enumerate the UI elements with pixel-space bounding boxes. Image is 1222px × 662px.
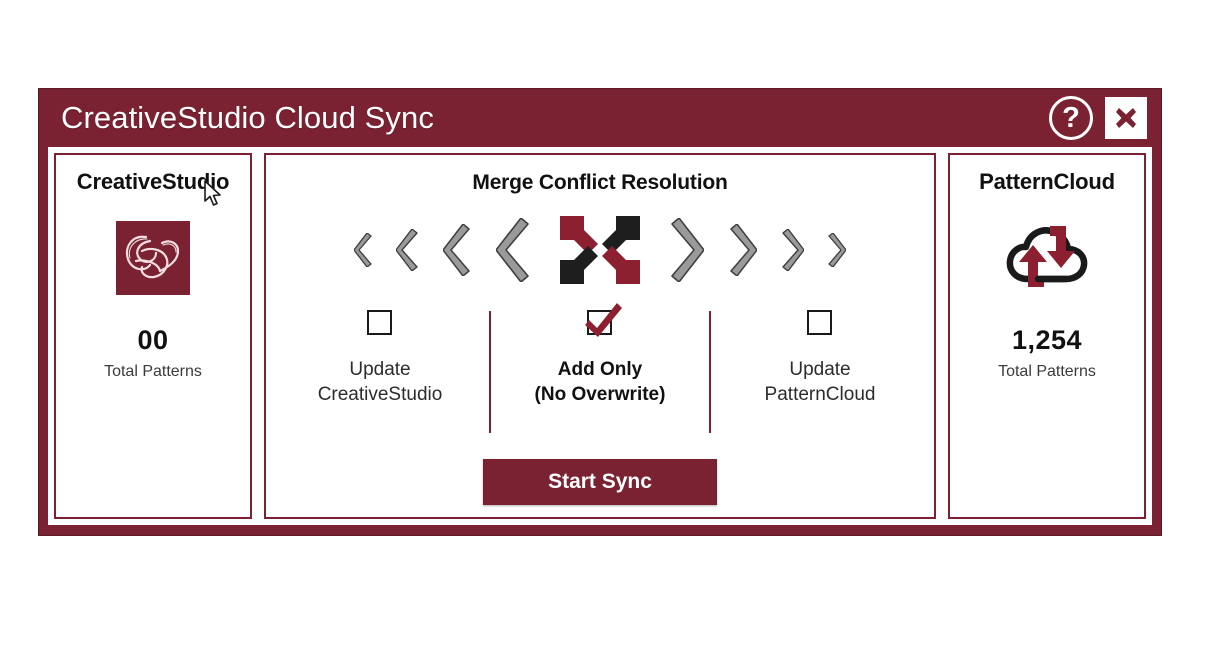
option-add-only[interactable]: Add Only (No Overwrite) [491, 307, 709, 407]
checkbox-box [367, 310, 392, 335]
option-label-line1: Update [765, 357, 876, 382]
dialog-title: CreativeStudio Cloud Sync [61, 100, 1049, 136]
chevron-right-icon-2 [724, 224, 757, 276]
center-panel-title: Merge Conflict Resolution [266, 171, 934, 195]
shuffle-sync-arrows-icon [554, 210, 646, 290]
checkbox-box [807, 310, 832, 335]
left-panel-count: 00 [137, 325, 168, 356]
chevron-left-icon-4 [496, 218, 536, 282]
right-panel-count-label: Total Patterns [998, 363, 1096, 381]
chevron-left-icon-2 [396, 229, 423, 271]
option-update-patterncloud[interactable]: Update PatternCloud [711, 307, 929, 407]
creativestudio-cs-monogram-logo [116, 221, 190, 295]
cloud-sync-dialog: CreativeStudio Cloud Sync ? CreativeStud… [38, 88, 1162, 536]
left-panel-creativestudio: CreativeStudio [54, 153, 252, 519]
sync-direction-arrows [266, 207, 934, 293]
dialog-titlebar: CreativeStudio Cloud Sync ? [39, 89, 1161, 147]
option-label-line2: PatternCloud [765, 382, 876, 407]
screen-root: CreativeStudio Cloud Sync ? CreativeStud… [0, 0, 1222, 662]
left-panel-count-label: Total Patterns [104, 363, 202, 381]
close-x-icon[interactable] [1105, 97, 1147, 139]
option-label-line2: CreativeStudio [318, 382, 443, 407]
checkbox-update-creativestudio[interactable] [365, 307, 395, 337]
option-label-update-creativestudio: Update CreativeStudio [318, 357, 443, 407]
chevron-right-icon-4 [824, 233, 846, 267]
option-label-line1: Add Only [535, 357, 666, 382]
merge-options-row: Update CreativeStudio A [266, 307, 934, 435]
cloud-sync-recycle-icon [1004, 217, 1090, 295]
checkbox-update-patterncloud[interactable] [805, 307, 835, 337]
checkbox-add-only-no-overwrite[interactable] [585, 307, 615, 337]
right-panel-patterncloud: PatternCloud 1,254 Total Patterns [948, 153, 1146, 519]
option-label-add-only: Add Only (No Overwrite) [535, 357, 666, 407]
right-panel-count: 1,254 [1012, 325, 1082, 356]
dialog-body: CreativeStudio [48, 147, 1152, 525]
chevron-left-icon-3 [443, 224, 476, 276]
chevron-left-icon-1 [354, 233, 376, 267]
right-panel-title: PatternCloud [979, 169, 1115, 195]
center-panel-merge-conflict: Merge Conflict Resolution [264, 153, 936, 519]
option-label-update-patterncloud: Update PatternCloud [765, 357, 876, 407]
titlebar-actions: ? [1049, 96, 1147, 140]
chevron-right-icon-1 [664, 218, 704, 282]
option-update-creativestudio[interactable]: Update CreativeStudio [271, 307, 489, 407]
left-panel-title: CreativeStudio [77, 169, 229, 195]
option-label-line1: Update [318, 357, 443, 382]
option-label-line2: (No Overwrite) [535, 382, 666, 407]
checkmark-icon [583, 298, 623, 338]
help-question-icon[interactable]: ? [1049, 96, 1093, 140]
start-sync-button[interactable]: Start Sync [483, 459, 717, 505]
chevron-right-icon-3 [777, 229, 804, 271]
